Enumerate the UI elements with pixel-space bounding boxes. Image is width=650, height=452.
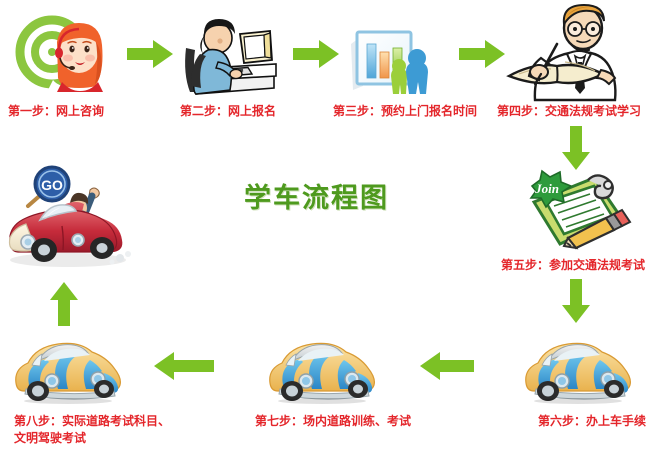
step-7-label: 第七步：场内道路训练、考试 [255, 413, 411, 430]
bar-chart-people-icon [343, 24, 435, 100]
step-4-label: 第四步：交通法规考试学习 [497, 103, 641, 120]
step-1-label: 第一步：网上咨询 [8, 103, 104, 120]
step-7-icon [262, 331, 382, 403]
step-3-label: 第三步：预约上门报名时间 [333, 103, 477, 120]
step-2-icon [178, 14, 282, 102]
step-6-icon [518, 331, 638, 403]
red-convertible-go-sign-icon: GO [4, 158, 134, 270]
arrow-8-to-finish [48, 280, 80, 328]
step-4-icon [505, 4, 625, 102]
beetle-car-icon [262, 331, 382, 403]
step-2-label: 第二步：网上报名 [180, 103, 276, 120]
step-5-label: 第五步：参加交通法规考试 [501, 257, 645, 274]
arrow-1-to-2 [127, 38, 175, 70]
beetle-car-icon [518, 331, 638, 403]
step-5-icon: Join [520, 168, 632, 254]
go-sign-text: GO [41, 177, 63, 193]
step-6-label: 第六步：办上车手续 [538, 413, 646, 430]
arrow-3-to-4 [459, 38, 507, 70]
beetle-car-icon [8, 331, 128, 403]
arrow-5-to-6 [560, 279, 592, 325]
arrow-2-to-3 [293, 38, 341, 70]
step-1-icon [12, 8, 112, 100]
flowchart-canvas: 学车流程图 [0, 0, 650, 452]
page-title: 学车流程图 [244, 176, 389, 215]
clipboard-join-pencil-icon: Join [520, 168, 632, 254]
arrow-7-to-8 [152, 350, 216, 382]
arrow-4-to-5 [560, 126, 592, 172]
step-final-icon: GO [4, 158, 134, 270]
step-8-label: 第八步：实际道路考试科目、 文明驾驶考试 [14, 413, 170, 447]
step-3-icon [343, 24, 435, 100]
man-studying-book-icon [505, 4, 625, 102]
person-at-computer-icon [178, 14, 282, 102]
arrow-6-to-7 [418, 350, 476, 382]
step-8-icon [8, 331, 128, 403]
customer-service-headset-icon [12, 8, 112, 100]
join-badge-text: Join [534, 181, 559, 196]
